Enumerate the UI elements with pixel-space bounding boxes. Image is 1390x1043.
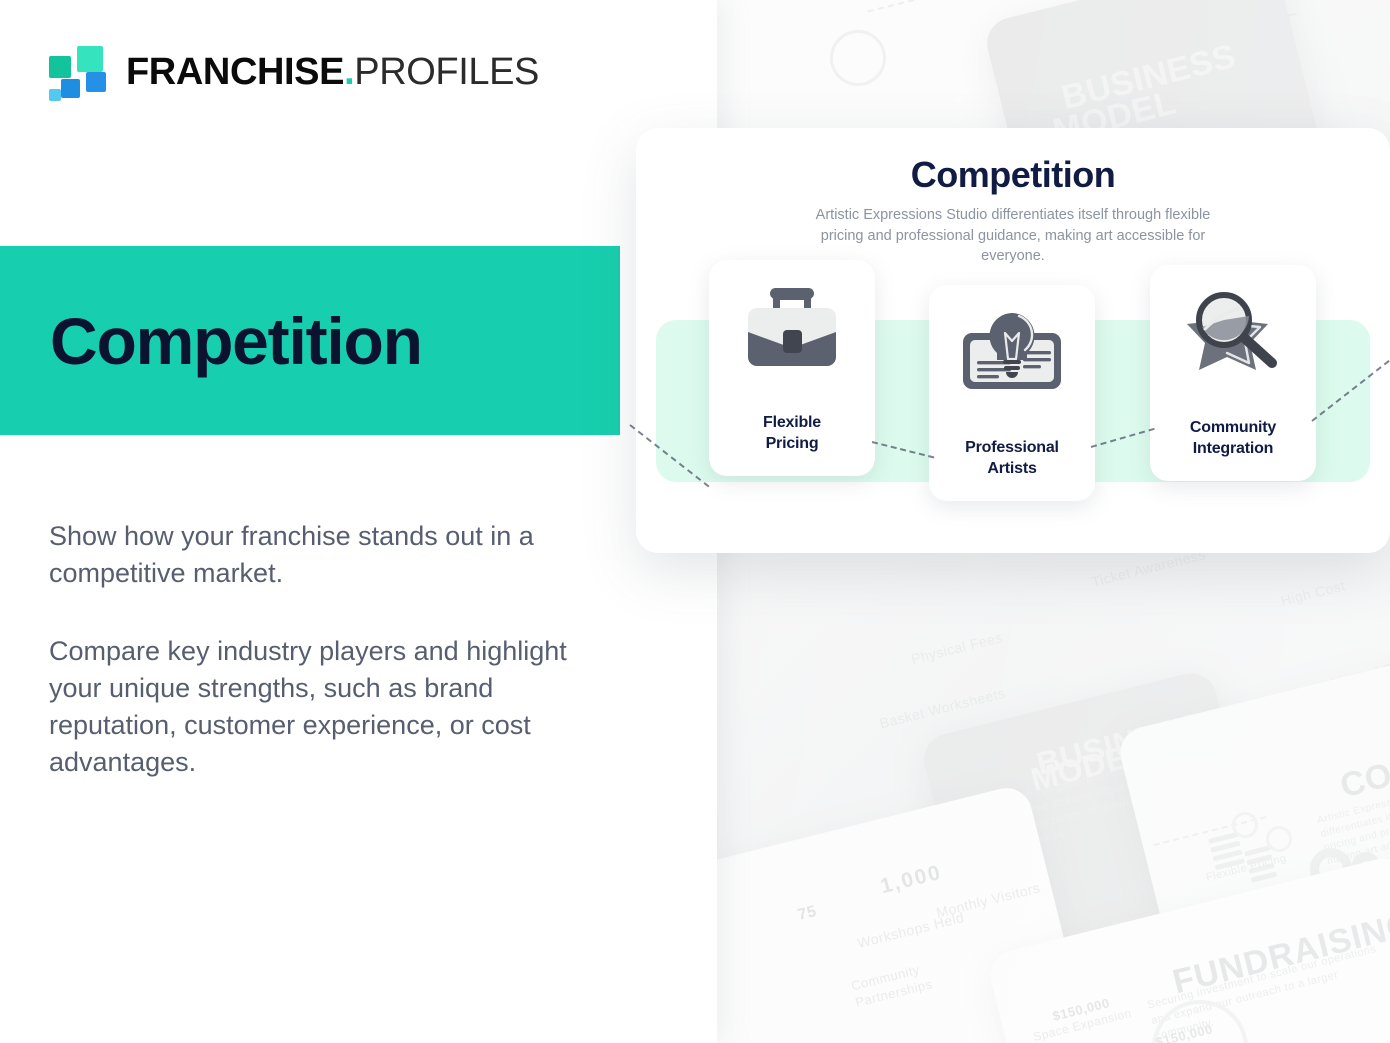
- card-title: Competition: [636, 154, 1390, 196]
- briefcase-icon: [740, 286, 844, 375]
- slide-canvas: Drop-in Fees Session Workshops Commissio…: [0, 0, 1390, 1043]
- feature-tile-community-integration[interactable]: CommunityIntegration: [1150, 265, 1316, 481]
- brand-name-light: PROFILES: [354, 51, 539, 93]
- paragraph-2: Compare key industry players and highlig…: [49, 633, 619, 782]
- page-title: Competition: [50, 308, 422, 374]
- squares-mosaic-icon: [49, 46, 104, 98]
- feature-tile-flexible-pricing[interactable]: FlexiblePricing: [709, 260, 875, 476]
- body-copy: Show how your franchise stands out in a …: [49, 518, 619, 782]
- card-subtitle: Artistic Expressions Studio differentiat…: [813, 205, 1213, 267]
- brand-name-bold: FRANCHISE: [126, 51, 344, 93]
- brand-logo[interactable]: FRANCHISE.PROFILES: [49, 46, 539, 98]
- feature-tile-label: FlexiblePricing: [709, 412, 875, 454]
- lightbulb-certificate-icon: [957, 311, 1067, 400]
- feature-tile-label: ProfessionalArtists: [929, 437, 1095, 479]
- brand-wordmark: FRANCHISE.PROFILES: [126, 53, 539, 91]
- feature-tile-label: CommunityIntegration: [1150, 417, 1316, 459]
- star-magnifier-icon: [1180, 291, 1286, 382]
- brand-name-dot: .: [344, 51, 354, 93]
- section-banner: Competition: [0, 246, 620, 435]
- paragraph-1: Show how your franchise stands out in a …: [49, 518, 619, 593]
- left-panel: FRANCHISE.PROFILES Competition Show how …: [0, 0, 717, 1043]
- competition-card: Competition Artistic Expressions Studio …: [636, 128, 1390, 553]
- feature-tile-professional-artists[interactable]: ProfessionalArtists: [929, 285, 1095, 501]
